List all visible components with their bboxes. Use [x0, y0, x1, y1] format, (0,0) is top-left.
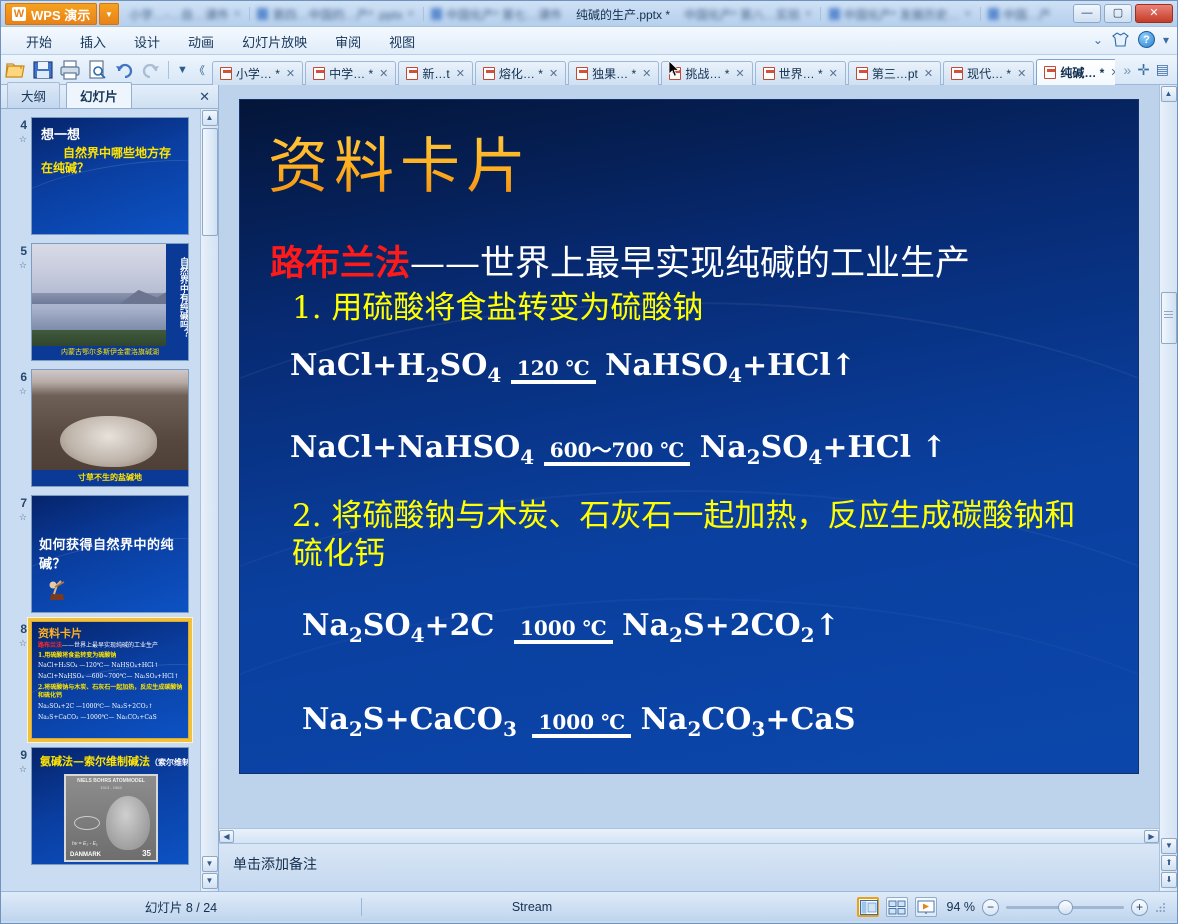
doc-tabs-right-controls: » ✛ ▤ [1115, 61, 1177, 79]
presentation-file-icon [669, 67, 681, 80]
title-tab-active[interactable]: 纯碱的生产.pptx * [570, 3, 676, 25]
presentation-file-icon [576, 67, 588, 80]
thumbnail-canvas[interactable]: 资料卡片 路布兰法——世界上最早实现纯碱的工业生产 1.用硫酸将食盐转变为硫酸钠… [31, 621, 189, 739]
arrow-bar [532, 734, 631, 738]
close-icon[interactable]: ✕ [379, 67, 388, 80]
presentation-file-icon [951, 67, 963, 80]
minimize-button[interactable]: — [1073, 4, 1101, 23]
presentation-file-icon [483, 67, 495, 80]
thumb-title-paren: （索尔维制碱法） [150, 757, 189, 767]
title-tab-strip: 小学…-…自…课件 ✕ 第四…中国的…产* .pptx ✕ 中国化产* 第七…课… [123, 1, 1057, 27]
menu-animation[interactable]: 动画 [175, 28, 227, 55]
stamp-country: DANMARK [70, 852, 101, 858]
thumbnail-number: 6 ☆ [9, 369, 27, 487]
doc-tab-label: 第三…pt [872, 65, 918, 82]
ribbon-right-controls: ⌄ ? ▾ [1093, 31, 1169, 48]
undo-icon[interactable] [112, 58, 136, 82]
reaction-arrow-1: 120 ℃ [511, 358, 596, 384]
close-icon[interactable]: ✕ [286, 67, 295, 80]
thumbnail-number: 5 ☆ [9, 243, 27, 361]
slide-editor: 资料卡片 路布兰法——世界上最早实现纯碱的工业生产 1. 用硫酸将食盐转变为硫酸… [219, 85, 1177, 891]
arrow-bar [511, 380, 596, 384]
reaction-arrow-2: 600～700 ℃ [544, 440, 690, 466]
thumb-title: 资料卡片 [38, 625, 82, 641]
slides-panel-tabs: 大纲 幻灯片 ✕ [1, 85, 218, 109]
active-document-title: 纯碱的生产.pptx * [576, 6, 670, 23]
toolbar-more-icon[interactable]: ▼ [174, 64, 191, 76]
doc-tab-6[interactable]: 世界… * ✕ [755, 61, 846, 85]
doc-tab-label: 中学… * [329, 65, 373, 82]
scroll-up-button[interactable]: ▲ [202, 110, 218, 126]
doc-tab-label: 独果… * [592, 65, 636, 82]
title-tab[interactable]: 第四…中国的…产* .pptx ✕ [251, 3, 420, 25]
stamp-value: 35 [142, 849, 151, 858]
mode-label: Stream [362, 900, 702, 914]
slide-counter: 幻灯片 8 / 24 [1, 897, 361, 916]
doc-tab-4[interactable]: 独果… * ✕ [568, 61, 659, 85]
thumbnail-item[interactable]: 4 ☆ 想一想 自然界中哪些地方存在纯碱？ [9, 117, 201, 235]
doc-tab-label: 世界… * [779, 65, 823, 82]
slides-panel: 大纲 幻灯片 ✕ 4 ☆ 想一想 自然界中哪些地方存在纯碱？ [1, 85, 219, 891]
zoom-level-label: 94 % [947, 900, 976, 914]
lead-red-text: 路布兰法 [270, 243, 410, 284]
skin-icon[interactable] [1111, 32, 1130, 47]
close-icon[interactable]: ✕ [804, 9, 812, 20]
presentation-file-icon [829, 8, 840, 20]
previous-slide-button[interactable]: ⬆ [1161, 855, 1177, 871]
scroll-right-button[interactable]: ▶ [1144, 830, 1159, 843]
current-slide[interactable]: 资料卡片 路布兰法——世界上最早实现纯碱的工业生产 1. 用硫酸将食盐转变为硫酸… [239, 99, 1139, 774]
window-controls: — ▢ ✕ [1073, 4, 1173, 23]
app-name-label: WPS 演示 [31, 5, 90, 24]
thumb-title: 想一想 [41, 124, 80, 143]
animation-star-icon: ☆ [9, 385, 27, 397]
dropdown-icon[interactable]: ▾ [1163, 33, 1169, 47]
presentation-file-icon [257, 8, 268, 20]
scroll-down-button[interactable]: ▼ [202, 856, 218, 872]
presentation-file-icon [406, 67, 418, 80]
thumbnail-canvas[interactable]: 氨碱法—索尔维制碱法（索尔维制碱法） NIELS BOHRS ATOMMODEL… [31, 747, 189, 865]
thumb-title-main: 氨碱法—索尔维制碱法 [40, 755, 150, 768]
menu-insert[interactable]: 插入 [67, 28, 119, 55]
menu-list: 开始 插入 设计 动画 幻灯片放映 审阅 视图 [1, 27, 1177, 55]
menu-view[interactable]: 视图 [376, 28, 428, 55]
menu-design[interactable]: 设计 [121, 28, 173, 55]
doc-tab-label: 新…t [422, 65, 449, 82]
reaction-arrow-3: 1000 ℃ [514, 618, 613, 644]
status-bar: 幻灯片 8 / 24 Stream [1, 891, 1177, 921]
slide-title: 资料卡片 [268, 118, 532, 205]
thumbnail-canvas[interactable]: 想一想 自然界中哪些地方存在纯碱？ [31, 117, 189, 235]
menu-slideshow[interactable]: 幻灯片放映 [229, 28, 320, 55]
chevron-down-icon[interactable]: ⌄ [1093, 33, 1103, 47]
slideshow-icon[interactable] [915, 897, 937, 917]
new-tab-icon[interactable]: ✛ [1137, 61, 1150, 79]
presentation-file-icon [220, 67, 232, 80]
slide-sorter-icon[interactable] [886, 897, 908, 917]
thumb-caption: 内蒙古鄂尔多斯伊金霍洛旗碱湖 [32, 346, 188, 360]
wps-presentation-window: W WPS 演示 ▼ 小学…-…自…课件 ✕ 第四…中国的…产* .pptx ✕… [0, 0, 1178, 924]
doc-tab-active[interactable]: 纯碱… * ✕ [1036, 59, 1115, 85]
save-icon[interactable] [31, 58, 55, 82]
close-icon[interactable]: ✕ [964, 9, 972, 20]
animation-star-icon: ☆ [9, 133, 27, 145]
title-tab[interactable]: 中国…产 [982, 3, 1057, 25]
maximize-button[interactable]: ▢ [1104, 4, 1132, 23]
thumbnail-number: 8 ☆ [9, 621, 27, 739]
vertical-scrollbar[interactable]: ▲ ▼ ⬆ ⬇ [1159, 85, 1177, 891]
reaction-condition-1: 120 ℃ [511, 358, 596, 380]
thumb-title: 氨碱法—索尔维制碱法（索尔维制碱法） [40, 753, 184, 769]
status-right-controls: 94 % − + [857, 892, 1168, 922]
workspace: 大纲 幻灯片 ✕ 4 ☆ 想一想 自然界中哪些地方存在纯碱？ [1, 85, 1177, 891]
slide-lead-line: 路布兰法——世界上最早实现纯碱的工业生产 [270, 235, 970, 286]
title-tab-label: 中国化产* 发展历史… [844, 6, 960, 23]
thumbnail-item[interactable]: 9 ☆ 氨碱法—索尔维制碱法（索尔维制碱法） NIELS BOHRS ATOMM… [9, 747, 201, 865]
title-tab-label: 第四…中国的…产* .pptx [272, 6, 402, 23]
presentation-file-icon [856, 67, 868, 80]
zoom-slider-handle[interactable] [1058, 900, 1073, 915]
resize-grip-icon[interactable] [1155, 901, 1167, 913]
stamp-line2: 1913 - 1963 [66, 785, 156, 790]
presentation-file-icon [1044, 66, 1056, 79]
doc-tab-8[interactable]: 现代… * ✕ [943, 61, 1034, 85]
close-icon[interactable]: ✕ [199, 89, 210, 105]
thumbnail-canvas[interactable]: 寸草不生的盐碱地 [31, 369, 189, 487]
stamp-line3: hv = E₂ - E₁ [72, 841, 98, 847]
title-tab-label: 中国化产* 第八…实验 [684, 6, 800, 23]
title-tab-label: 小学…-…自…课件 [129, 6, 229, 23]
tab-overflow-icon[interactable]: » [1123, 62, 1131, 78]
quick-access-toolbar: ▼ 《 小学… * ✕ 中学… * ✕ 新…t ✕ 熔化… * ✕ [1, 55, 1177, 85]
document-tab-strip: 小学… * ✕ 中学… * ✕ 新…t ✕ 熔化… * ✕ 独果… * [208, 55, 1116, 85]
slide-viewport: 资料卡片 路布兰法——世界上最早实现纯碱的工业生产 1. 用硫酸将食盐转变为硫酸… [219, 85, 1159, 827]
close-icon[interactable]: ✕ [735, 67, 744, 80]
title-tab[interactable]: 小学…-…自…课件 ✕ [123, 3, 247, 25]
close-icon[interactable]: ✕ [407, 9, 415, 20]
redo-icon[interactable] [139, 58, 163, 82]
scroll-down-button[interactable]: ▼ [1161, 838, 1177, 854]
doc-tab-label: 纯碱… * [1060, 64, 1104, 81]
title-tab-label: 中国…产 [1003, 6, 1051, 23]
slides-panel-scrollbar[interactable]: ▲ ▼ ▼ [200, 109, 218, 891]
notes-pane[interactable]: 单击添加备注 [219, 843, 1159, 891]
scroll-page-down-button[interactable]: ▼ [202, 873, 218, 889]
toolbar-collapse-icon[interactable]: 《 [191, 62, 208, 78]
normal-view-icon[interactable] [857, 897, 879, 917]
doc-tab-1[interactable]: 中学… * ✕ [305, 61, 396, 85]
presentation-file-icon [988, 8, 999, 20]
title-tab[interactable]: 中国化产* 发展历史… ✕ [823, 3, 978, 25]
thumb-body: 自然界中哪些地方存在纯碱？ [41, 146, 180, 176]
thumbnail-number: 7 ☆ [9, 495, 27, 613]
thumbnail-item[interactable]: 6 ☆ 寸草不生的盐碱地 [9, 369, 201, 487]
slide-step-1: 1. 用硫酸将食盐转变为硫酸钠 [292, 290, 703, 328]
tab-outline[interactable]: 大纲 [7, 82, 60, 108]
equation-1: NaCl+H2SO4 120 ℃ NaHSO4+HCl↑ [290, 348, 856, 387]
divider [168, 61, 169, 79]
close-icon[interactable]: ✕ [456, 67, 465, 80]
lead-white-text: ——世界上最早实现纯碱的工业生产 [410, 244, 970, 284]
tab-slides[interactable]: 幻灯片 [66, 82, 132, 108]
doc-tab-label: 小学… * [236, 65, 280, 82]
thumb-body: 路布兰法——世界上最早实现纯碱的工业生产 1.用硫酸将食盐转变为硫酸钠 NaCl… [38, 642, 184, 722]
animation-star-icon: ☆ [9, 259, 27, 271]
tab-layout-icon[interactable]: ▤ [1156, 61, 1169, 78]
close-button[interactable]: ✕ [1135, 4, 1173, 23]
title-tab[interactable]: 中国化产* 第七…课件 [425, 3, 568, 25]
lake-photo [32, 244, 188, 360]
reaction-condition-2: 600～700 ℃ [544, 440, 690, 462]
doc-tab-5[interactable]: 挑战… * ✕ [661, 61, 752, 85]
reaction-condition-4: 1000 ℃ [532, 712, 631, 734]
app-menu-caret[interactable]: ▼ [99, 3, 119, 25]
thumbnail-item[interactable]: 7 ☆ 如何获得自然界中的纯碱？ [9, 495, 201, 613]
doc-tab-3[interactable]: 熔化… * ✕ [475, 61, 566, 85]
thumb-title: 如何获得自然界中的纯碱？ [39, 534, 183, 572]
close-icon[interactable]: ✕ [1017, 67, 1026, 80]
stamp-image: NIELS BOHRS ATOMMODEL 1913 - 1963 hv = E… [64, 774, 158, 862]
thumbnail-number: 9 ☆ [9, 747, 27, 865]
doc-tab-label: 现代… * [967, 65, 1011, 82]
thumbnail-item-selected[interactable]: 8 ☆ 资料卡片 路布兰法——世界上最早实现纯碱的工业生产 1.用硫酸将食盐转变… [9, 621, 201, 739]
scroll-left-button[interactable]: ◀ [219, 830, 234, 843]
thumbnail-canvas[interactable]: 如何获得自然界中的纯碱？ [31, 495, 189, 613]
close-icon[interactable]: ✕ [233, 9, 241, 20]
slide-step-2: 2. 将硫酸钠与木炭、石灰石一起加热，反应生成碳酸钠和硫化钙 [292, 498, 1102, 574]
ribbon-menu-bar: 开始 插入 设计 动画 幻灯片放映 审阅 视图 ⌄ ? ▾ [1, 27, 1177, 55]
zoom-out-button[interactable]: − [982, 899, 999, 916]
arrow-bar [544, 462, 690, 466]
animation-star-icon: ☆ [9, 637, 27, 649]
close-icon[interactable]: ✕ [924, 67, 933, 80]
presentation-file-icon [763, 67, 775, 80]
animation-star-icon: ☆ [9, 763, 27, 775]
alchemist-clipart-icon [42, 578, 72, 604]
scroll-up-button[interactable]: ▲ [1161, 86, 1177, 102]
thumb-side-text: 自然界中有纯碱吗？ [166, 244, 188, 346]
zoom-slider[interactable] [1006, 906, 1124, 909]
saltflat-photo [32, 370, 188, 486]
animation-star-icon: ☆ [9, 511, 27, 523]
presentation-file-icon [431, 8, 442, 20]
print-preview-icon[interactable] [85, 58, 109, 82]
presentation-file-icon [313, 67, 325, 80]
close-icon[interactable]: ✕ [549, 67, 558, 80]
scroll-thumb[interactable] [202, 128, 218, 236]
close-icon[interactable]: ✕ [829, 67, 838, 80]
print-icon[interactable] [58, 58, 82, 82]
doc-tab-2[interactable]: 新…t ✕ [398, 61, 473, 85]
close-icon[interactable]: ✕ [642, 67, 651, 80]
zoom-in-button[interactable]: + [1131, 899, 1148, 916]
scroll-thumb[interactable] [1161, 292, 1177, 344]
thumbnail-item[interactable]: 5 ☆ 自然界中有纯碱吗？ 内蒙古鄂尔多斯伊金霍洛旗碱湖 [9, 243, 201, 361]
reaction-arrow-4: 1000 ℃ [532, 712, 631, 738]
next-slide-button[interactable]: ⬇ [1161, 872, 1177, 888]
doc-tab-7[interactable]: 第三…pt ✕ [848, 61, 941, 85]
notes-placeholder: 单击添加备注 [233, 856, 317, 872]
wps-app-logo[interactable]: W WPS 演示 [5, 3, 97, 25]
arrow-bar [514, 640, 613, 644]
title-tab[interactable]: 中国化产* 第八…实验 ✕ [678, 3, 818, 25]
wps-logo-mark: W [12, 7, 26, 21]
horizontal-scrollbar[interactable]: ◀ ▶ [219, 828, 1159, 843]
doc-tab-label: 熔化… * [499, 65, 543, 82]
open-icon[interactable] [4, 58, 28, 82]
title-tab-label: 中国化产* 第七…课件 [446, 6, 562, 23]
menu-start[interactable]: 开始 [13, 28, 65, 55]
stamp-line1: NIELS BOHRS ATOMMODEL [66, 778, 156, 784]
menu-review[interactable]: 审阅 [322, 28, 374, 55]
doc-tab-label: 挑战… * [685, 65, 729, 82]
equation-3: Na2SO4+2C 1000 ℃ Na2S+2CO2↑ [302, 608, 840, 647]
title-bar: W WPS 演示 ▼ 小学…-…自…课件 ✕ 第四…中国的…产* .pptx ✕… [1, 1, 1177, 27]
help-icon[interactable]: ? [1138, 31, 1155, 48]
thumbnail-list[interactable]: 4 ☆ 想一想 自然界中哪些地方存在纯碱？ 5 ☆ [1, 109, 201, 891]
equation-4: Na2S+CaCO3 1000 ℃ Na2CO3+CaS [302, 702, 855, 741]
thumbnail-number: 4 ☆ [9, 117, 27, 235]
doc-tab-0[interactable]: 小学… * ✕ [212, 61, 303, 85]
equation-2: NaCl+NaHSO4 600～700 ℃ Na2SO4+HCl ↑ [290, 430, 947, 469]
thumbnail-canvas[interactable]: 自然界中有纯碱吗？ 内蒙古鄂尔多斯伊金霍洛旗碱湖 [31, 243, 189, 361]
thumb-caption: 寸草不生的盐碱地 [32, 470, 188, 486]
reaction-condition-3: 1000 ℃ [514, 618, 613, 640]
